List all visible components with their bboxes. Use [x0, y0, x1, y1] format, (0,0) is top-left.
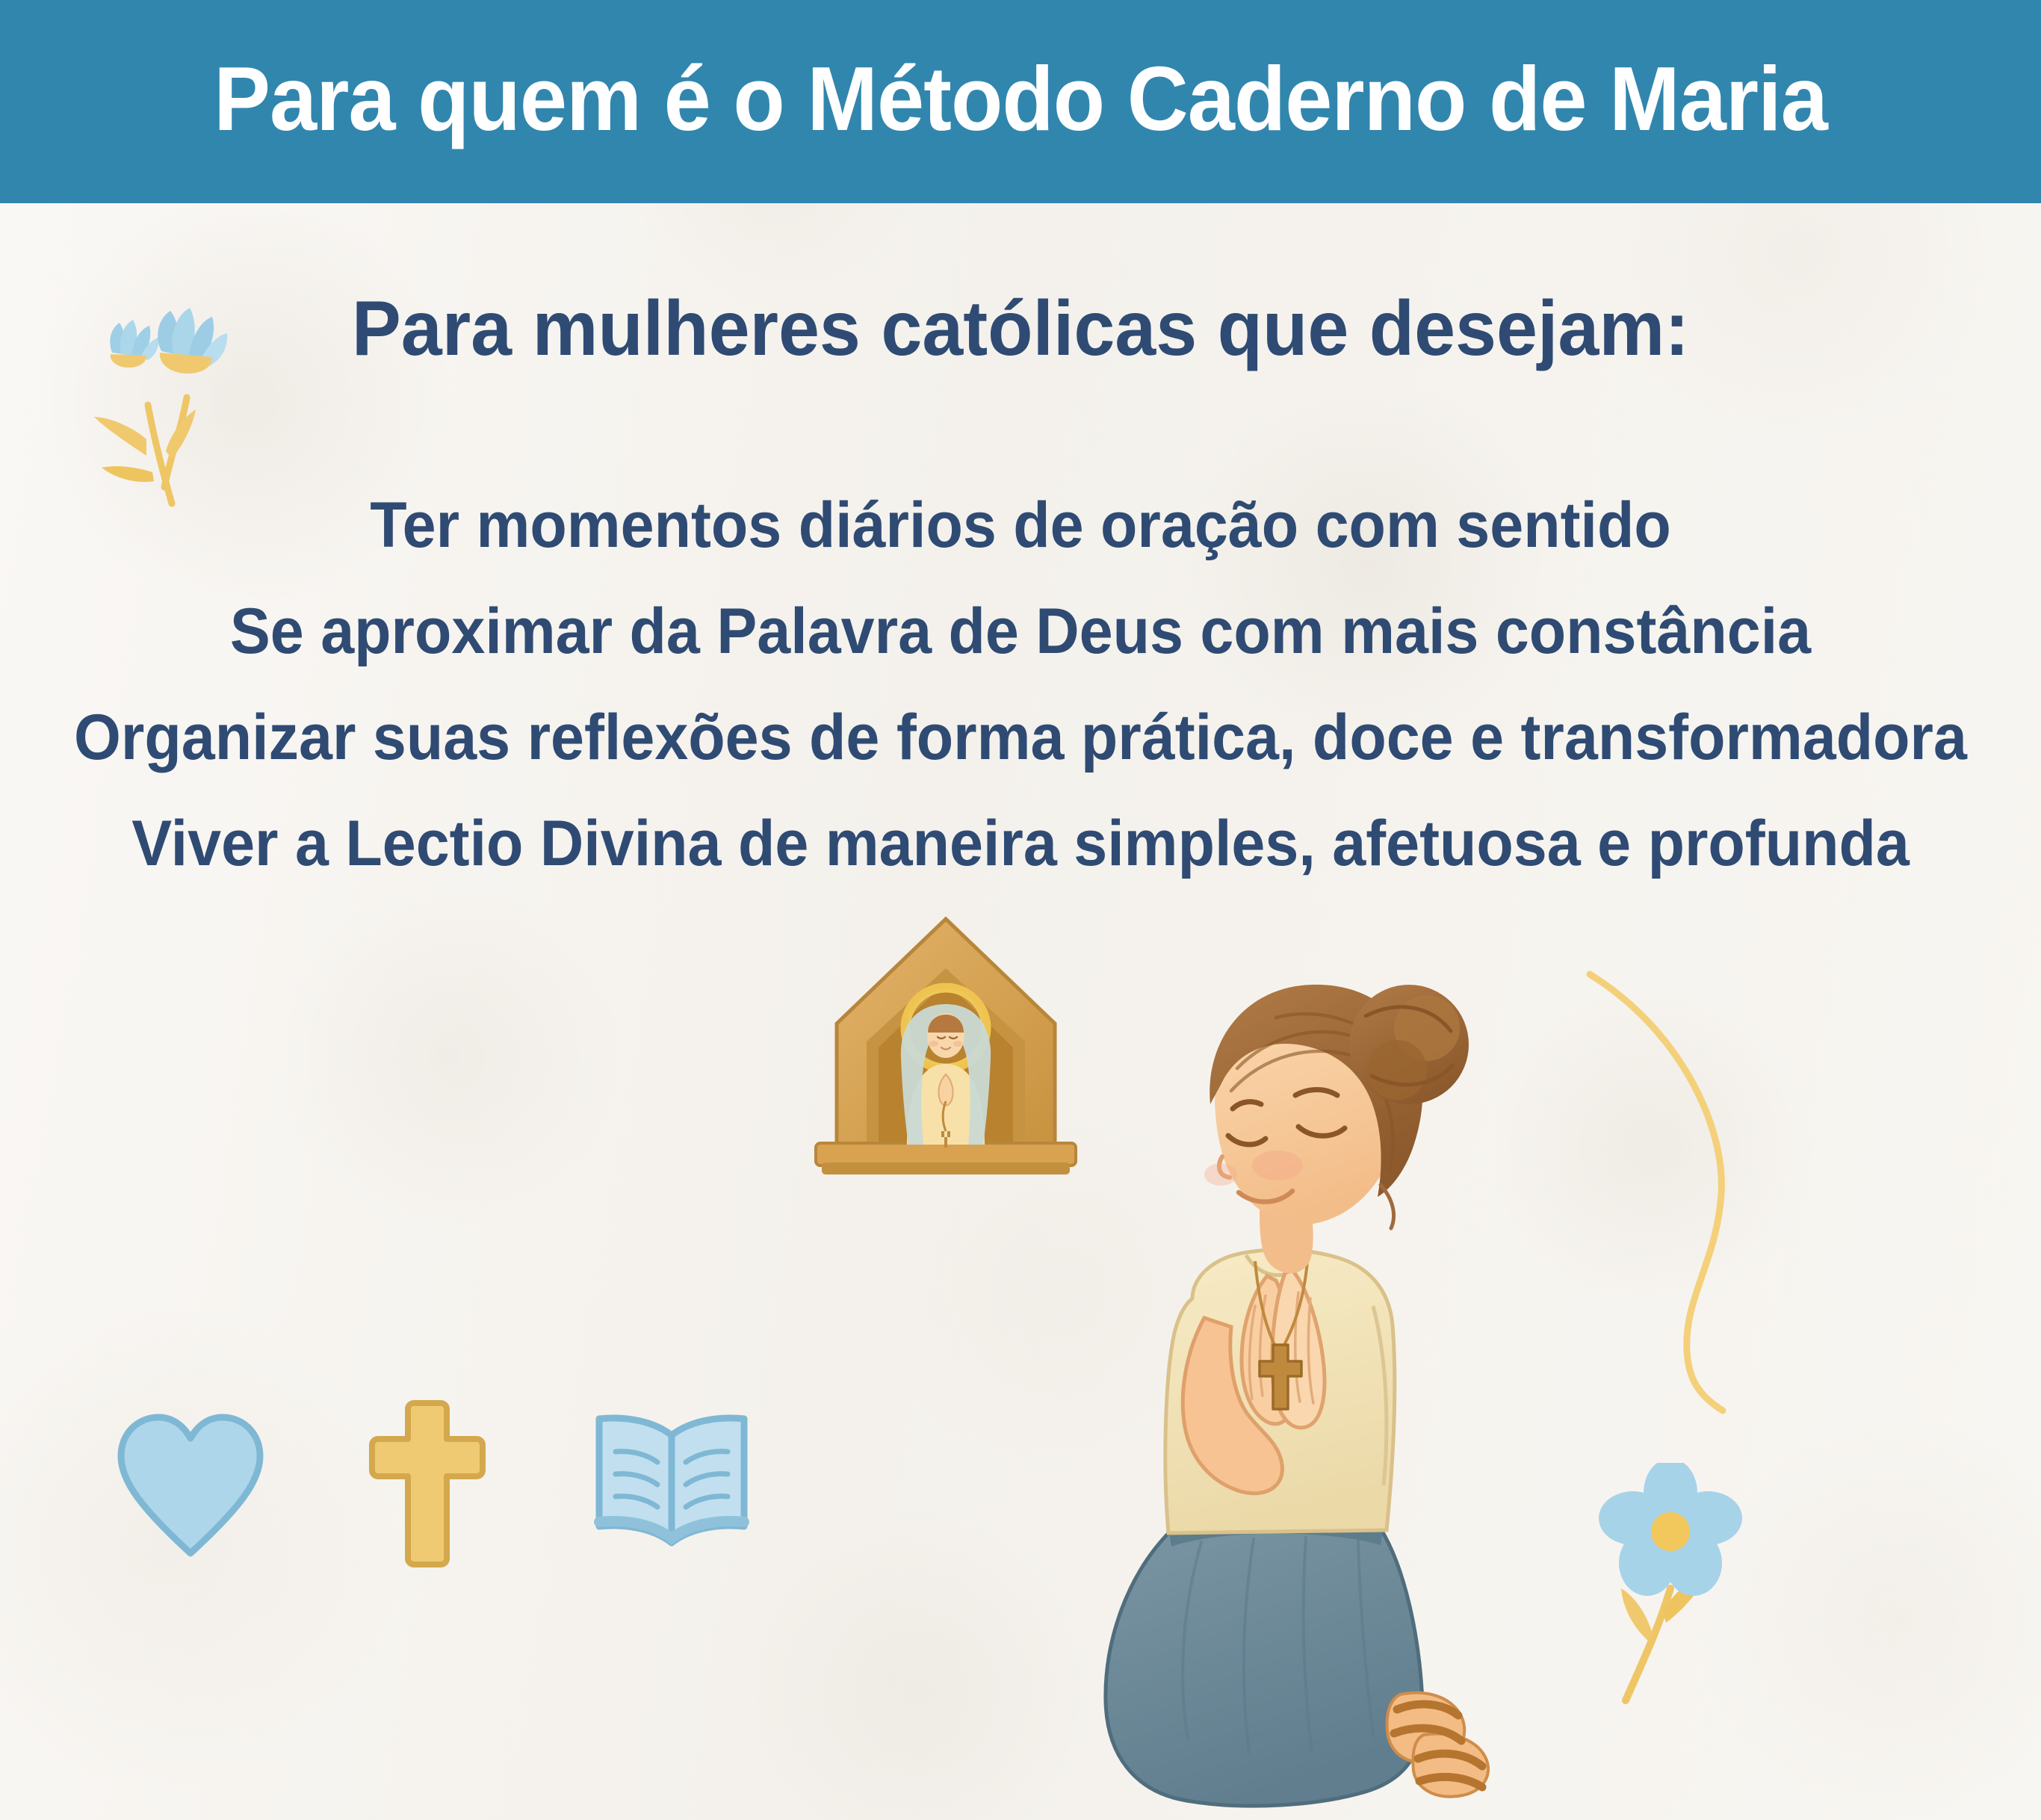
hair-bun: [1349, 985, 1469, 1104]
open-book-icon: [586, 1410, 758, 1559]
heart-icon: [112, 1410, 269, 1559]
header-band: Para quem é o Método Caderno de Maria: [0, 0, 2041, 203]
bullet-line: Se aproximar da Palavra de Deus com mais…: [61, 599, 1980, 663]
poster-page: Para quem é o Método Caderno de Maria Pa…: [0, 0, 2041, 1820]
praying-woman-illustration: [753, 858, 1500, 1820]
shrine-niche: [816, 919, 1076, 1174]
bullet-line: Ter momentos diários de oração com senti…: [61, 493, 1980, 557]
symbol-icon-row: [112, 1399, 758, 1570]
flower-sprig-icon: [58, 285, 275, 513]
flower-icon: [1582, 1463, 1836, 1765]
bullet-line: Organizar suas reflexões de forma prátic…: [61, 705, 1980, 770]
sandal: [1387, 1693, 1488, 1797]
subheading: Para mulheres católicas que desejam:: [51, 290, 1989, 368]
kneeling-woman: [1106, 985, 1488, 1806]
cross-icon: [368, 1399, 487, 1570]
bullet-list: Ter momentos diários de oração com senti…: [0, 493, 2041, 876]
gold-swoosh-icon: [1552, 947, 1799, 1422]
page-title: Para quem é o Método Caderno de Maria: [214, 53, 1827, 144]
